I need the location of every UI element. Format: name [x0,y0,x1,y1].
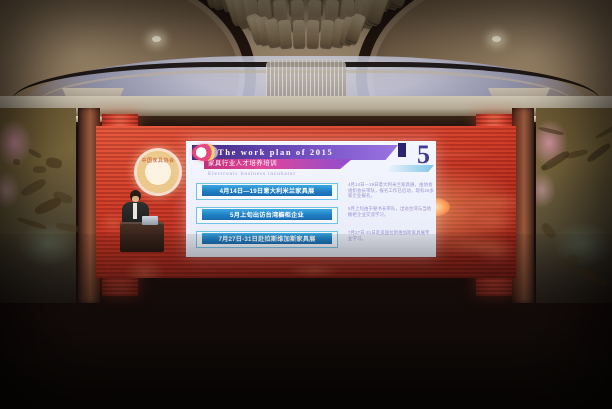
mural-branch [13,159,20,166]
ceiling-spotlight [152,36,161,42]
slide-row-note: 4月14日—19日意大利米兰家具展，由协会组织会长带队，报名工作已启动，现有20… [348,182,434,199]
backdrop-cloud [466,192,516,214]
mural-branch [594,122,612,139]
speaker-shirt [133,203,137,219]
circular-gold-emblem: 中国家具协会 [134,148,182,196]
chandelier-petal [307,20,320,48]
slide-row-pill-label: 4月14日—19日意大利米兰家具展 [220,186,315,195]
chandelier-petal [292,20,305,48]
slide-row: 5月上旬出访台湾橱柜企业 5月上旬由于秘书长带队，出访台湾与当地橱柜企业交流学习… [196,205,432,226]
slide-number-sweep [386,165,434,172]
conference-hall-scene: 中国家具协会 The work plan of 2015 家具行业人才培养培训 … [0,0,612,409]
slide-subtitle-en: Electronic business incubator [208,171,296,177]
slide-row-pill: 5月上旬出访台湾橱柜企业 [202,209,332,220]
mural-branch [538,126,564,136]
slide-row-pill: 4月14日—19日意大利米兰家具展 [202,185,332,196]
emblem-text: 中国家具协会 [134,157,182,164]
slide-big-number: 5 [417,142,430,168]
slide-row: 4月14日—19日意大利米兰家具展 4月14日—19日意大利米兰家具展，由协会组… [196,181,432,202]
podium-laptop [142,216,158,225]
mural-branch [32,166,45,173]
audience-shadow-base [0,234,612,409]
slide-row-note: 5月上旬由于秘书长带队，出访台湾与当地橱柜企业交流学习。 [348,206,434,217]
mural-branch [27,148,41,159]
mural-branch [19,176,47,197]
ceiling-spotlight [492,36,501,42]
mural-branch [45,157,63,170]
slide-row-pill-label: 5月上旬出访台湾橱柜企业 [230,210,304,219]
slide-title: The work plan of 2015 [218,145,403,160]
mural-branch [17,217,47,230]
organization-logo-badge [192,144,218,161]
mural-branch [540,150,570,173]
seated-audience [0,234,612,409]
mural-branch [585,141,612,164]
slide-number-accent [398,143,406,157]
slide-subtitle-cn: 家具行业人才培养培训 [208,159,354,169]
